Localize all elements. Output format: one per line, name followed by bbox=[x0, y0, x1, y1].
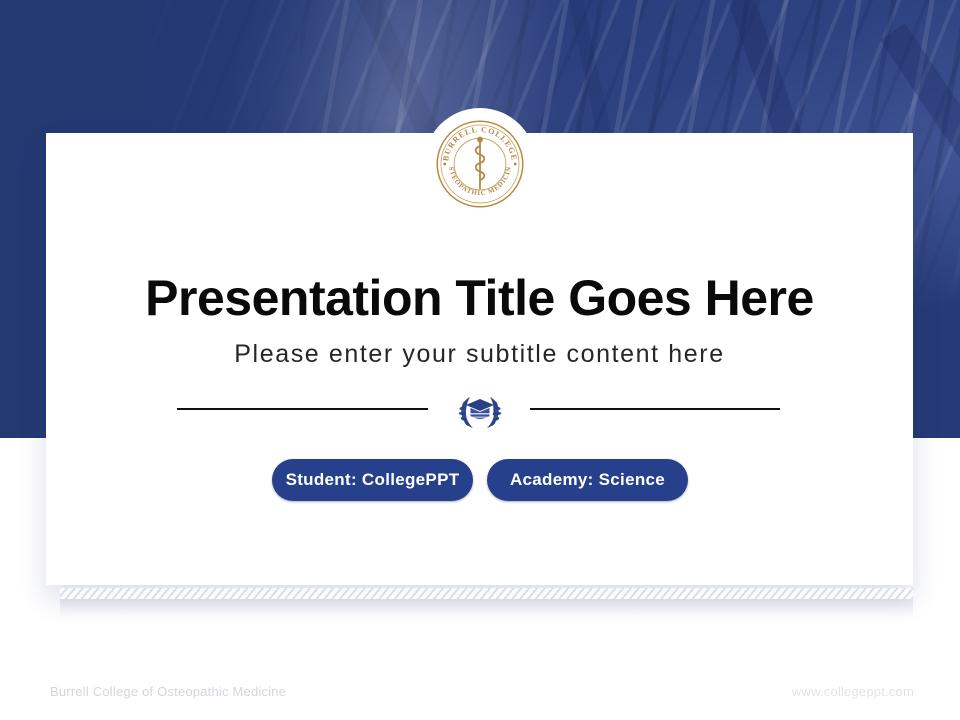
graduation-cap-laurel-icon bbox=[455, 391, 505, 431]
student-pill-button[interactable]: Student: CollegePPT bbox=[272, 459, 473, 501]
burrell-college-seal-icon: BURRELL COLLEGE OSTEOPATHIC MEDICINE bbox=[433, 117, 527, 211]
divider-line-left bbox=[177, 408, 428, 410]
slide-title: Presentation Title Goes Here bbox=[46, 272, 913, 325]
presentation-slide: BURRELL COLLEGE OSTEOPATHIC MEDICINE Pre… bbox=[0, 0, 960, 720]
content-card-base-shadow bbox=[60, 599, 913, 617]
slide-subtitle: Please enter your subtitle content here bbox=[46, 340, 913, 369]
academy-pill-button[interactable]: Academy: Science bbox=[487, 459, 688, 501]
divider-line-right bbox=[530, 408, 780, 410]
footer-website-url[interactable]: www.collegeppt.com bbox=[792, 684, 914, 699]
content-card-hatched-strip bbox=[60, 588, 913, 599]
footer-institution-name: Burrell College of Osteopathic Medicine bbox=[50, 684, 286, 699]
